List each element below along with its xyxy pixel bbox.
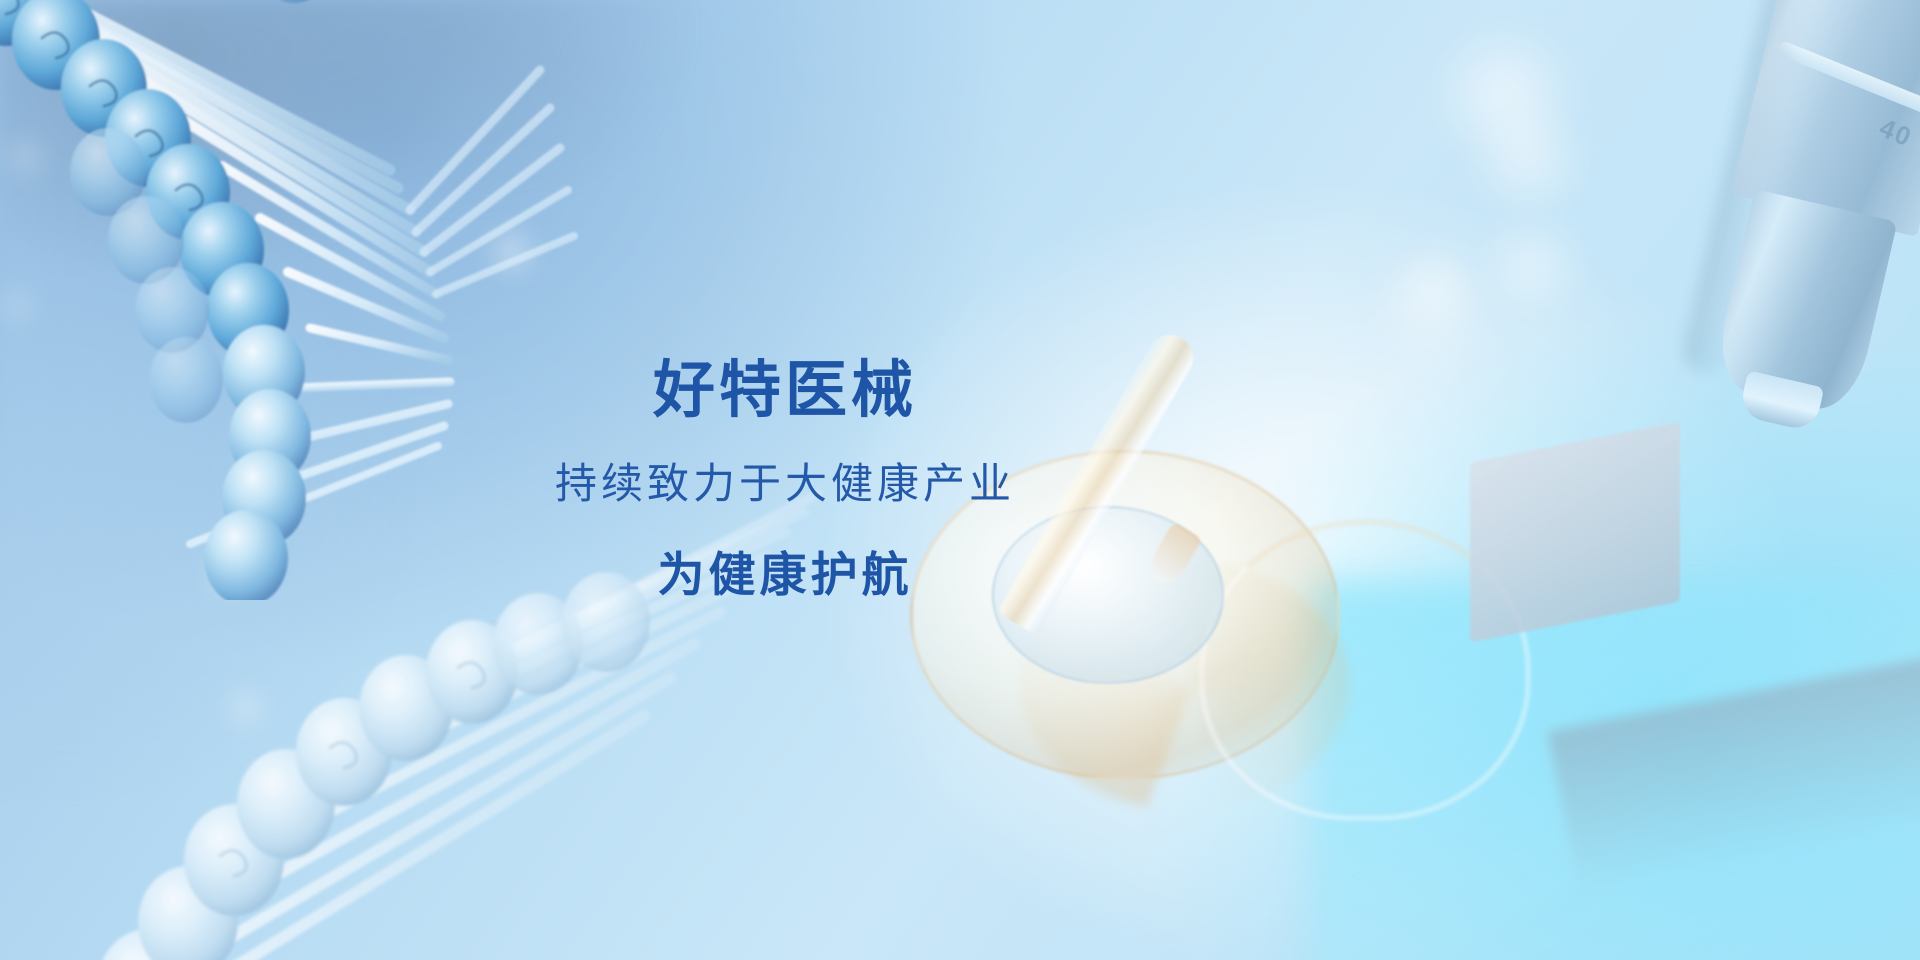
page-subtitle: 持续致力于大健康产业	[555, 459, 1015, 509]
hero-text-block: 好特医械 持续致力于大健康产业 为健康护航	[0, 0, 1570, 960]
page-title: 好特医械	[653, 358, 917, 425]
hero-banner: 40	[0, 0, 1920, 960]
page-slogan: 为健康护航	[658, 548, 913, 602]
